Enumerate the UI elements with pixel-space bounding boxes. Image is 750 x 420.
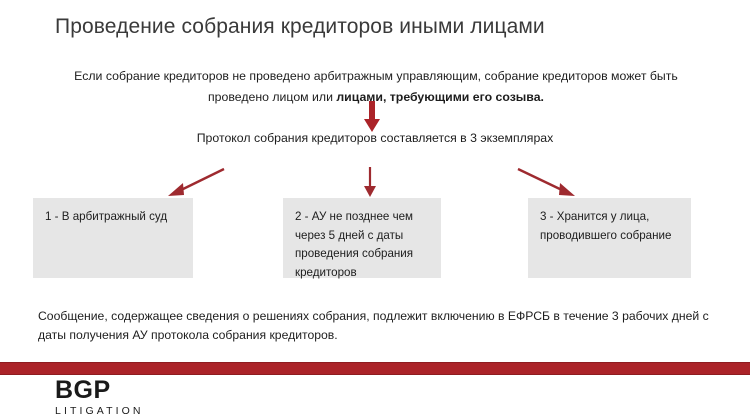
arrow-down-left-icon bbox=[160, 163, 230, 201]
slide-canvas: Проведение собрания кредиторов иными лиц… bbox=[0, 0, 750, 420]
arrow-down-icon bbox=[358, 163, 382, 201]
flow-box-2: 2 - АУ не позднее чем через 5 дней с дат… bbox=[283, 198, 441, 278]
footnote-paragraph: Сообщение, содержащее сведения о решения… bbox=[38, 307, 718, 345]
page-title: Проведение собрания кредиторов иными лиц… bbox=[55, 13, 705, 41]
flow-box-1: 1 - В арбитражный суд bbox=[33, 198, 193, 278]
flow-box-3: 3 - Хранится у лица, проводившего собран… bbox=[528, 198, 691, 278]
protocol-statement: Протокол собрания кредиторов составляетс… bbox=[75, 129, 675, 148]
arrow-down-right-icon bbox=[512, 163, 584, 201]
arrow-down-thick-icon bbox=[364, 101, 380, 132]
brand-logo: BGP LITIGATION bbox=[55, 378, 275, 418]
footer-accent-band bbox=[0, 362, 750, 375]
logo-tagline: LITIGATION bbox=[55, 404, 275, 418]
logo-wordmark: BGP bbox=[55, 378, 275, 403]
